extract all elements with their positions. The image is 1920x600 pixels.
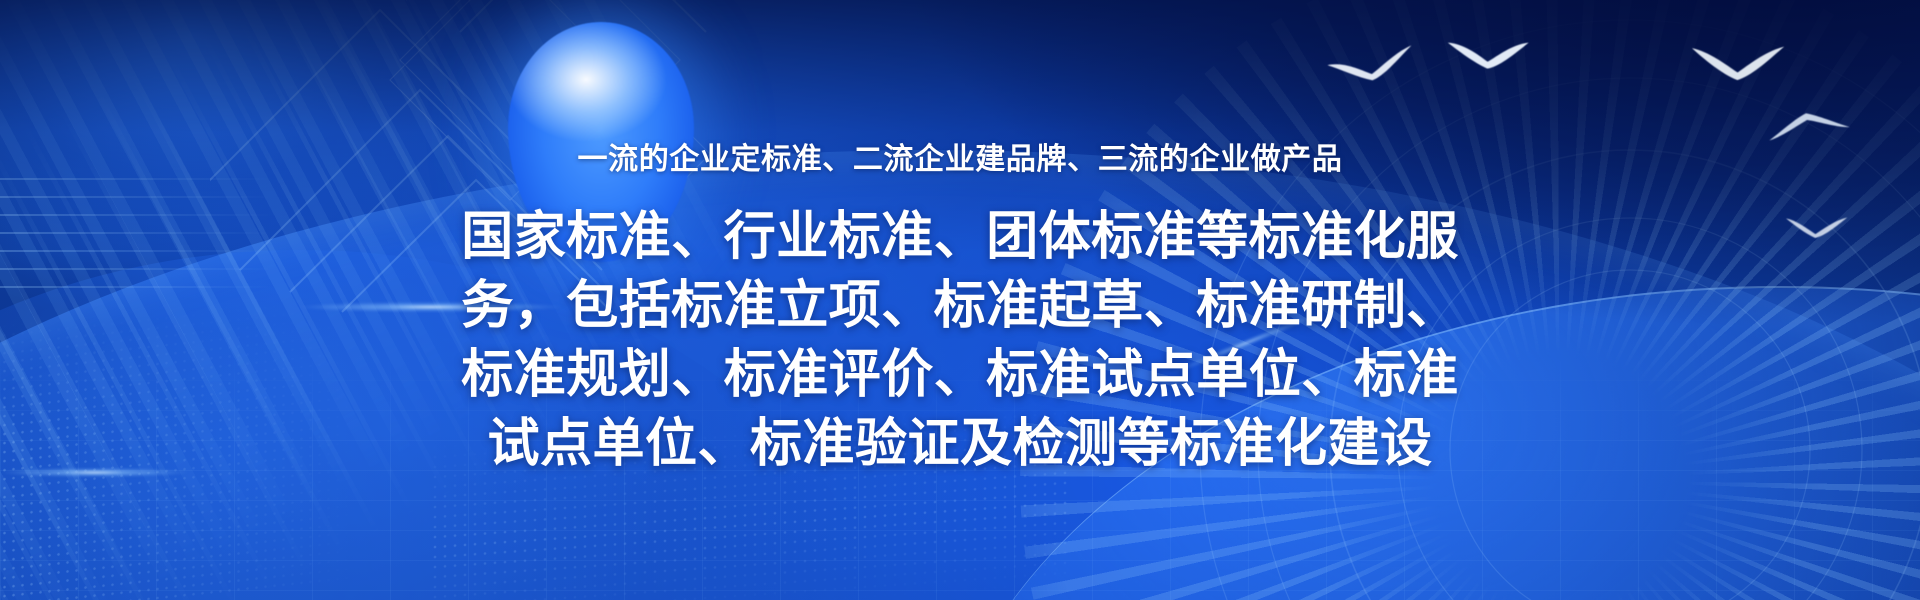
banner-root: 一流的企业定标准、二流企业建品牌、三流的企业做产品 国家标准、行业标准、团体标准… [0, 0, 1920, 600]
banner-body-text: 国家标准、行业标准、团体标准等标准化服 务，包括标准立项、标准起草、标准研制、 … [315, 177, 1605, 479]
banner-body-line: 务，包括标准立项、标准起草、标准研制、 [315, 272, 1605, 341]
banner-body-line: 试点单位、标准验证及检测等标准化建设 [315, 410, 1605, 479]
banner-headline: 一流的企业定标准、二流企业建品牌、三流的企业做产品 [0, 0, 1920, 177]
banner-body-line: 标准规划、标准评价、标准试点单位、标准 [315, 341, 1605, 410]
banner-body-line: 国家标准、行业标准、团体标准等标准化服 [315, 203, 1605, 272]
banner-text-block: 一流的企业定标准、二流企业建品牌、三流的企业做产品 国家标准、行业标准、团体标准… [0, 0, 1920, 479]
